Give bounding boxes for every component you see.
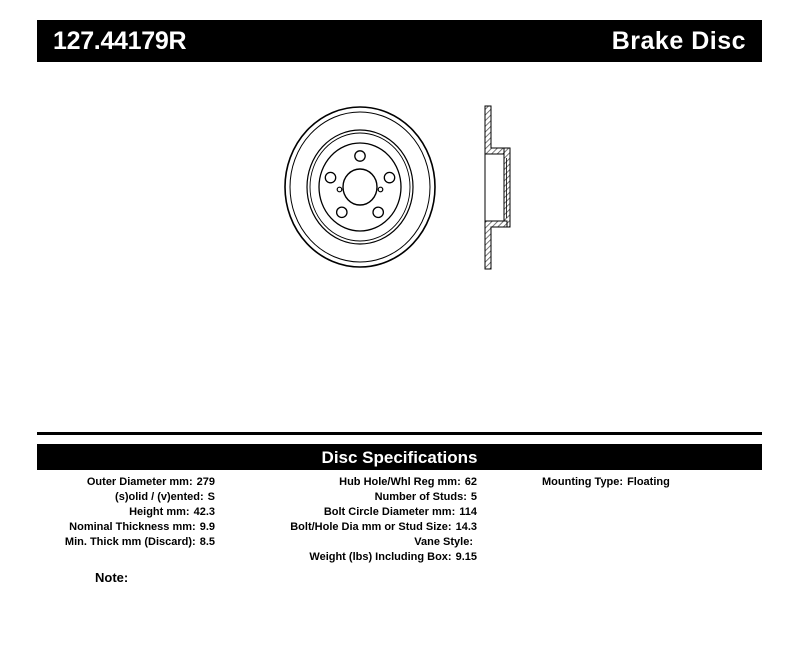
spec-row: Weight (lbs) Including Box: 9.15 xyxy=(227,550,477,565)
spec-value: Floating xyxy=(623,475,670,490)
spec-row: Bolt Circle Diameter mm: 114 xyxy=(227,505,477,520)
spec-value: 9.15 xyxy=(452,550,477,565)
spec-column-right: Mounting Type: Floating xyxy=(542,475,762,490)
spec-row: Height mm: 42.3 xyxy=(37,505,215,520)
spec-value: S xyxy=(204,490,215,505)
disc-specifications-title: Disc Specifications xyxy=(322,449,478,466)
spec-label: Height mm: xyxy=(129,505,190,520)
spec-row: Bolt/Hole Dia mm or Stud Size: 14.3 xyxy=(227,520,477,535)
disc-specifications-bar: Disc Specifications xyxy=(37,444,762,470)
spec-row: Min. Thick mm (Discard): 8.5 xyxy=(37,535,215,550)
spec-label: Bolt/Hole Dia mm or Stud Size: xyxy=(290,520,451,535)
note-value xyxy=(128,570,133,586)
spec-row: Vane Style: xyxy=(227,535,477,550)
header-bar: 127.44179R Brake Disc xyxy=(37,20,762,62)
spec-row: Nominal Thickness mm: 9.9 xyxy=(37,520,215,535)
product-type-label: Brake Disc xyxy=(612,29,746,54)
section-divider xyxy=(37,432,762,435)
spec-value xyxy=(473,535,477,550)
spec-label: Nominal Thickness mm: xyxy=(69,520,196,535)
spec-label: Bolt Circle Diameter mm: xyxy=(324,505,455,520)
spec-row: Mounting Type: Floating xyxy=(542,475,762,490)
spec-row: Outer Diameter mm: 279 xyxy=(37,475,215,490)
note-block: Note: xyxy=(95,570,133,586)
drawing-area xyxy=(37,80,762,420)
specifications-table: Outer Diameter mm: 279 (s)olid / (v)ente… xyxy=(37,475,762,595)
spec-column-middle: Hub Hole/Whl Reg mm: 62 Number of Studs:… xyxy=(227,475,477,565)
rotor-side-section-view xyxy=(477,100,523,280)
spec-label: Mounting Type: xyxy=(542,475,623,490)
spec-label: Number of Studs: xyxy=(375,490,467,505)
note-label: Note: xyxy=(95,570,128,586)
spec-value: 114 xyxy=(455,505,477,520)
spec-value: 8.5 xyxy=(196,535,215,550)
spec-label: Weight (lbs) Including Box: xyxy=(309,550,451,565)
spec-label: Vane Style: xyxy=(414,535,473,550)
rotor-face-view xyxy=(282,102,442,277)
spec-value: 9.9 xyxy=(196,520,215,535)
spec-value: 279 xyxy=(193,475,215,490)
part-number: 127.44179R xyxy=(53,29,186,54)
spec-value: 5 xyxy=(467,490,477,505)
spec-value: 42.3 xyxy=(190,505,215,520)
spec-row: Number of Studs: 5 xyxy=(227,490,477,505)
spec-label: Min. Thick mm (Discard): xyxy=(65,535,196,550)
spec-row: (s)olid / (v)ented: S xyxy=(37,490,215,505)
spec-label: Outer Diameter mm: xyxy=(87,475,193,490)
rotor-face-diagram xyxy=(282,102,442,272)
spec-row: Hub Hole/Whl Reg mm: 62 xyxy=(227,475,477,490)
spec-value: 14.3 xyxy=(452,520,477,535)
spec-label: (s)olid / (v)ented: xyxy=(115,490,204,505)
rotor-side-diagram xyxy=(477,100,523,275)
spec-label: Hub Hole/Whl Reg mm: xyxy=(339,475,461,490)
spec-value: 62 xyxy=(461,475,477,490)
spec-column-left: Outer Diameter mm: 279 (s)olid / (v)ente… xyxy=(37,475,215,550)
